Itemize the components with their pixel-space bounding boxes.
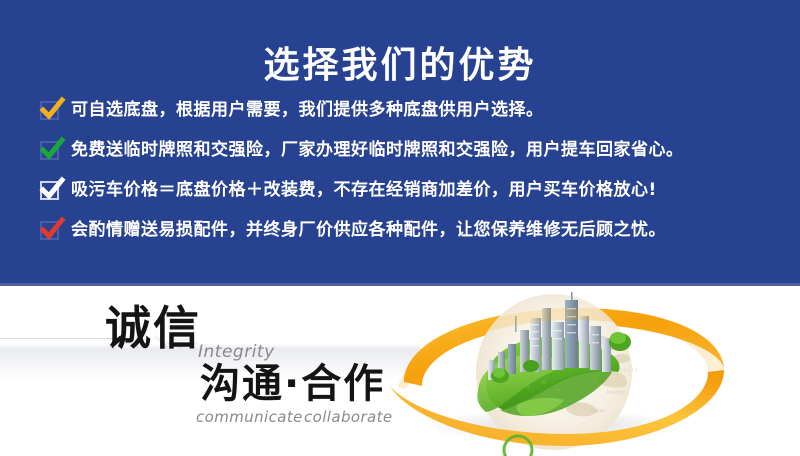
integrity-headline-en: Integrity bbox=[198, 342, 275, 362]
advantage-text: 会酌情赠送易损配件，并终身厂价供应各种配件，让您保养维修无后顾之忧。 bbox=[71, 218, 666, 242]
list-item: 免费送临时牌照和交强险，厂家办理好临时牌照和交强险，用户提车回家省心。 bbox=[40, 130, 780, 170]
checkbox-checked-yellow-icon bbox=[40, 101, 59, 120]
checkbox-checked-red-icon bbox=[40, 221, 59, 240]
advantages-panel: 选择我们的优势 可自选底盘，根据用户需要，我们提供多种底盘供用户选择。 免费送临… bbox=[0, 0, 800, 283]
list-item: 会酌情赠送易损配件，并终身厂价供应各种配件，让您保养维修无后顾之忧。 bbox=[40, 210, 780, 250]
svg-text:N o r t h: N o r t h bbox=[618, 368, 638, 374]
advantage-text: 可自选底盘，根据用户需要，我们提供多种底盘供用户选择。 bbox=[71, 98, 544, 122]
svg-text:Ocean: Ocean bbox=[590, 408, 606, 414]
advantage-text: 免费送临时牌照和交强险，厂家办理好临时牌照和交强险，用户提车回家省心。 bbox=[71, 138, 684, 162]
page-title: 选择我们的优势 bbox=[0, 42, 800, 90]
advantages-list: 可自选底盘，根据用户需要，我们提供多种底盘供用户选择。 免费送临时牌照和交强险，… bbox=[40, 90, 780, 250]
checkbox-checked-white-icon bbox=[40, 181, 59, 200]
list-item: 可自选底盘，根据用户需要，我们提供多种底盘供用户选择。 bbox=[40, 90, 780, 130]
checkbox-checked-green-icon bbox=[40, 141, 59, 160]
collaborate-subline-cn: 沟通·合作 bbox=[200, 362, 385, 406]
green-globe-city-illustration: Atlantic Ocean N o r t h bbox=[368, 286, 800, 456]
communicate-label-en: communicate bbox=[196, 408, 303, 426]
promo-page: 选择我们的优势 可自选底盘，根据用户需要，我们提供多种底盘供用户选择。 免费送临… bbox=[0, 0, 800, 456]
integrity-headline-cn: 诚信 bbox=[105, 303, 201, 353]
svg-text:Atlantic: Atlantic bbox=[606, 390, 625, 396]
advantage-text: 吸污车价格＝底盘价格＋改装费，不存在经销商加差价，用户买车价格放心! bbox=[71, 178, 657, 202]
collaborate-label-en: collaborate bbox=[304, 408, 393, 426]
list-item: 吸污车价格＝底盘价格＋改装费，不存在经销商加差价，用户买车价格放心! bbox=[40, 170, 780, 210]
